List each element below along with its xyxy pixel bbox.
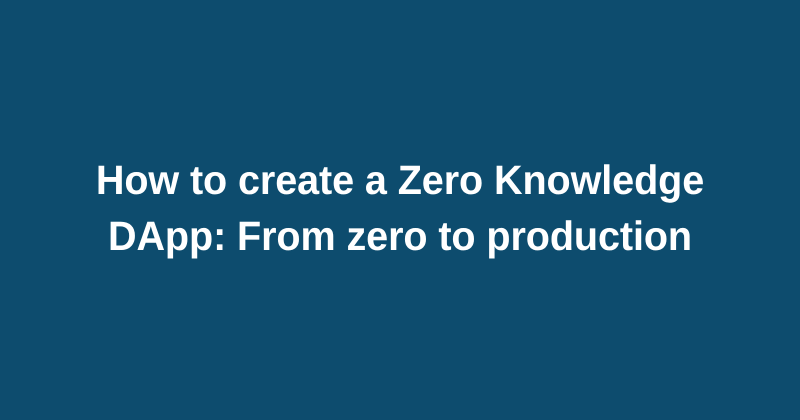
headline-line-1: How to create a Zero Knowledge — [53, 152, 748, 208]
headline-block: How to create a Zero Knowledge DApp: Fro… — [40, 152, 760, 264]
headline-line-2: DApp: From zero to production — [53, 208, 748, 264]
page-title: How to create a Zero Knowledge DApp: Fro… — [40, 152, 760, 264]
article-title-card: How to create a Zero Knowledge DApp: Fro… — [0, 0, 800, 420]
